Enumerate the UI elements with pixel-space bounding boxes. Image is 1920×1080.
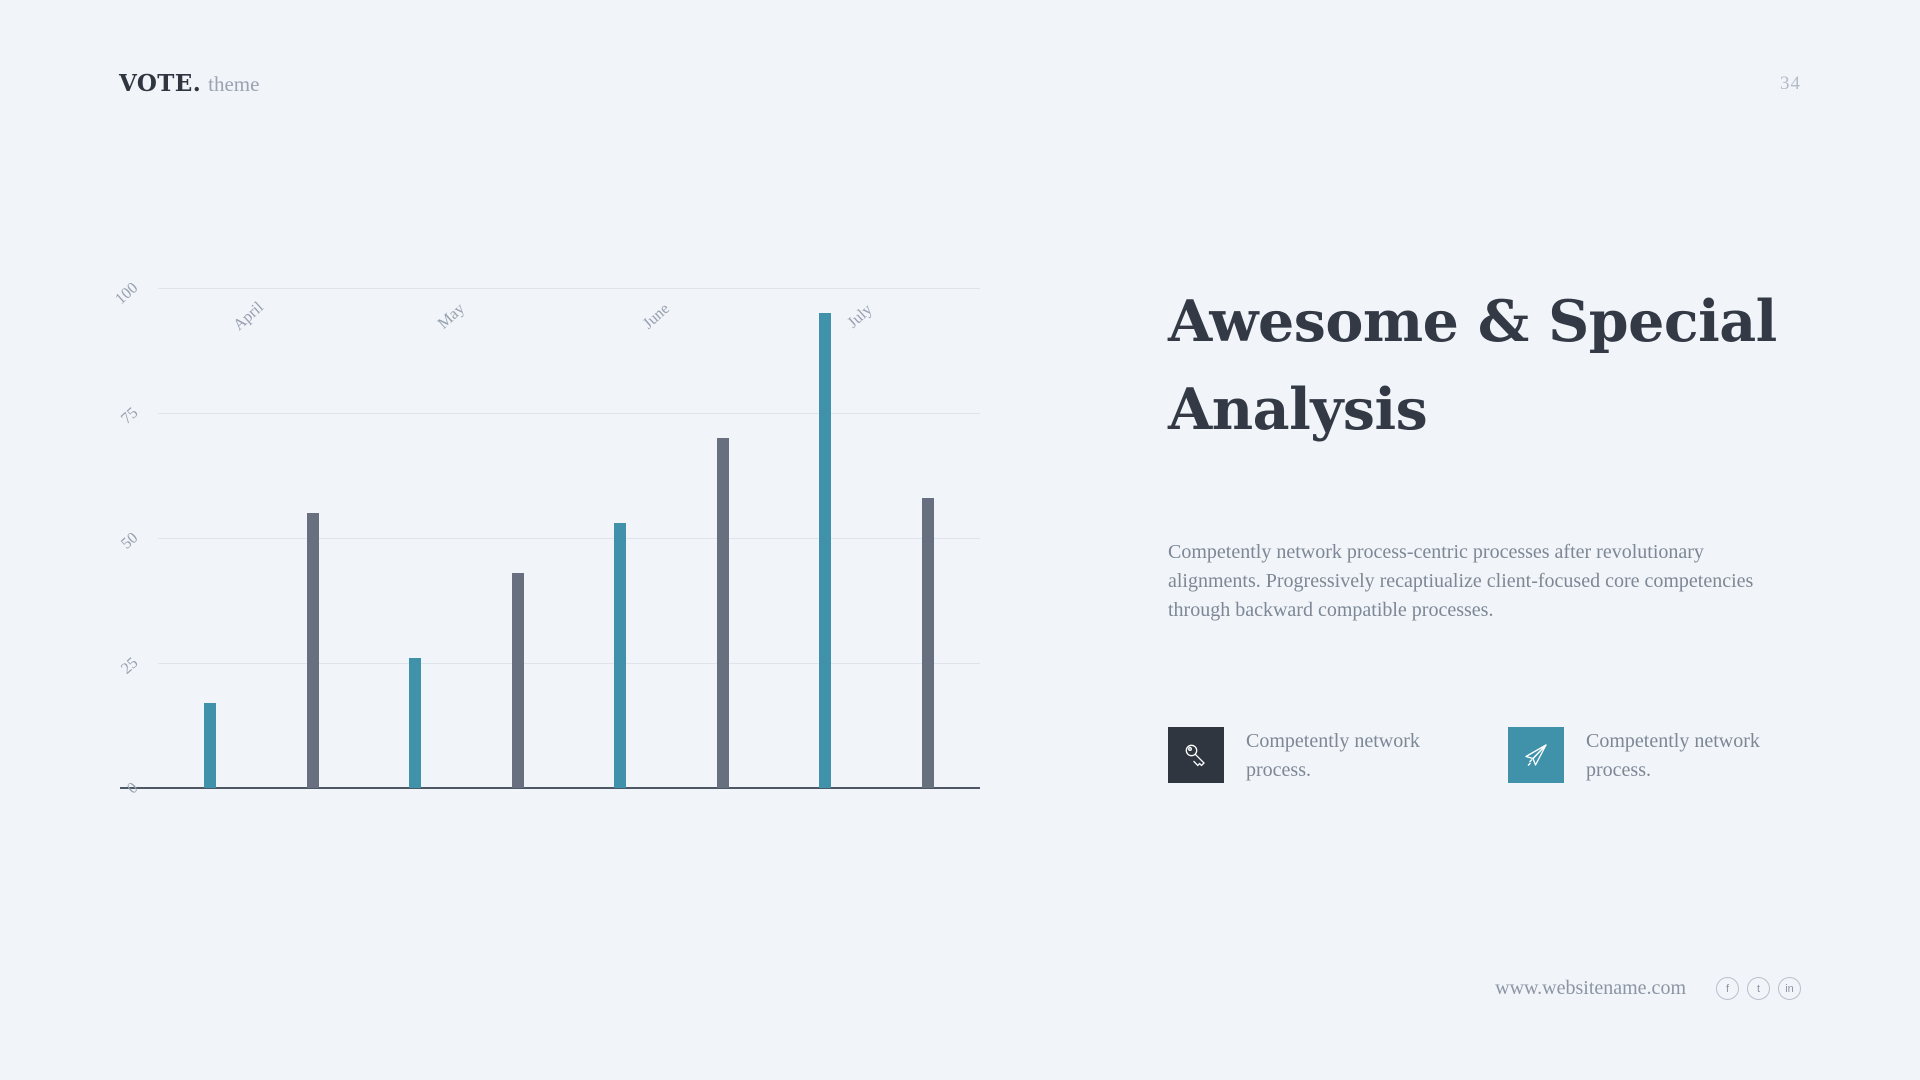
linkedin-icon[interactable]: in xyxy=(1778,977,1801,1000)
gridline xyxy=(158,663,980,664)
website-url[interactable]: www.websitename.com xyxy=(1495,977,1686,1000)
page-title: Awesome & Special Analysis xyxy=(1168,278,1808,454)
y-axis-tick: 75 xyxy=(118,404,142,428)
feature-label: Competently network process. xyxy=(1246,727,1426,785)
paper-plane-icon xyxy=(1508,727,1564,783)
bar-april-series2[interactable] xyxy=(307,513,319,788)
bar-april-series1[interactable] xyxy=(204,703,216,788)
feature-item[interactable]: Competently network process. xyxy=(1168,727,1508,785)
bar-chart-plot: 0255075100AprilMayJuneJuly xyxy=(158,288,980,788)
feature-list: Competently network process. Competently… xyxy=(1168,727,1808,785)
chart-container: 0255075100AprilMayJuneJuly xyxy=(0,0,1030,1080)
bar-july-series1[interactable] xyxy=(819,313,831,788)
gridline xyxy=(158,288,980,289)
x-axis-tick: May xyxy=(435,300,469,333)
twitter-icon[interactable]: t xyxy=(1747,977,1770,1000)
slide-footer: www.websitename.com f t in xyxy=(1495,977,1801,1000)
key-icon xyxy=(1168,727,1224,783)
y-axis-tick: 25 xyxy=(118,654,142,678)
bar-june-series1[interactable] xyxy=(614,523,626,788)
x-axis-tick: July xyxy=(844,301,876,332)
bar-june-series2[interactable] xyxy=(717,438,729,788)
y-axis-tick: 100 xyxy=(112,279,142,308)
content-panel: Awesome & Special Analysis Competently n… xyxy=(1168,0,1828,1080)
bar-may-series1[interactable] xyxy=(409,658,421,788)
x-axis-line xyxy=(120,787,980,789)
gridline xyxy=(158,413,980,414)
feature-item[interactable]: Competently network process. xyxy=(1508,727,1808,785)
x-axis-tick: June xyxy=(640,300,674,333)
bar-july-series2[interactable] xyxy=(922,498,934,788)
x-axis-tick: April xyxy=(230,299,267,335)
body-paragraph: Competently network process-centric proc… xyxy=(1168,538,1798,625)
facebook-icon[interactable]: f xyxy=(1716,977,1739,1000)
y-axis-tick: 50 xyxy=(118,529,142,553)
bar-may-series2[interactable] xyxy=(512,573,524,788)
gridline xyxy=(158,538,980,539)
feature-label: Competently network process. xyxy=(1586,727,1766,785)
